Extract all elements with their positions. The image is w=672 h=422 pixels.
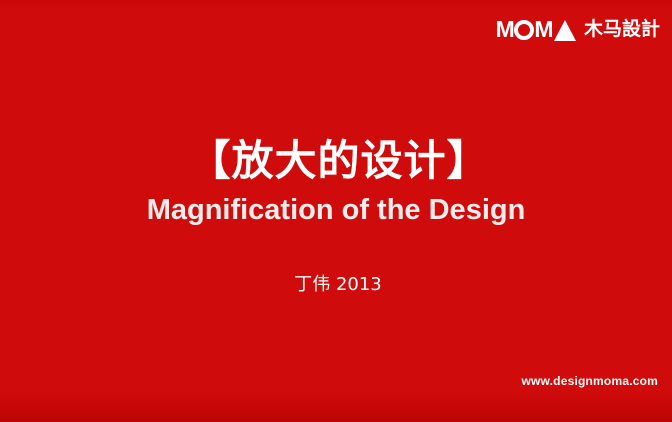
logo-letter-m-second: M <box>534 18 553 41</box>
triangle-a-icon <box>554 20 576 41</box>
presentation-slide: M M 木马設計 【放大的设计】 Magnification of the De… <box>0 0 672 422</box>
brand-chinese-name: 木马設計 <box>584 20 660 39</box>
page-subtitle-english: Magnification of the Design <box>0 192 672 228</box>
moma-wordmark: M M <box>496 17 576 41</box>
page-title-chinese: 【放大的设计】 <box>6 136 672 186</box>
author-byline: 丁伟 2013 <box>4 274 672 296</box>
site-url-footer[interactable]: www.designmoma.com <box>521 374 658 388</box>
brand-logo[interactable]: M M 木马設計 <box>496 14 660 44</box>
ring-o-icon <box>514 20 534 40</box>
title-block: 【放大的设计】 Magnification of the Design 丁伟 2… <box>0 136 672 296</box>
logo-letter-m-first: M <box>496 18 515 41</box>
